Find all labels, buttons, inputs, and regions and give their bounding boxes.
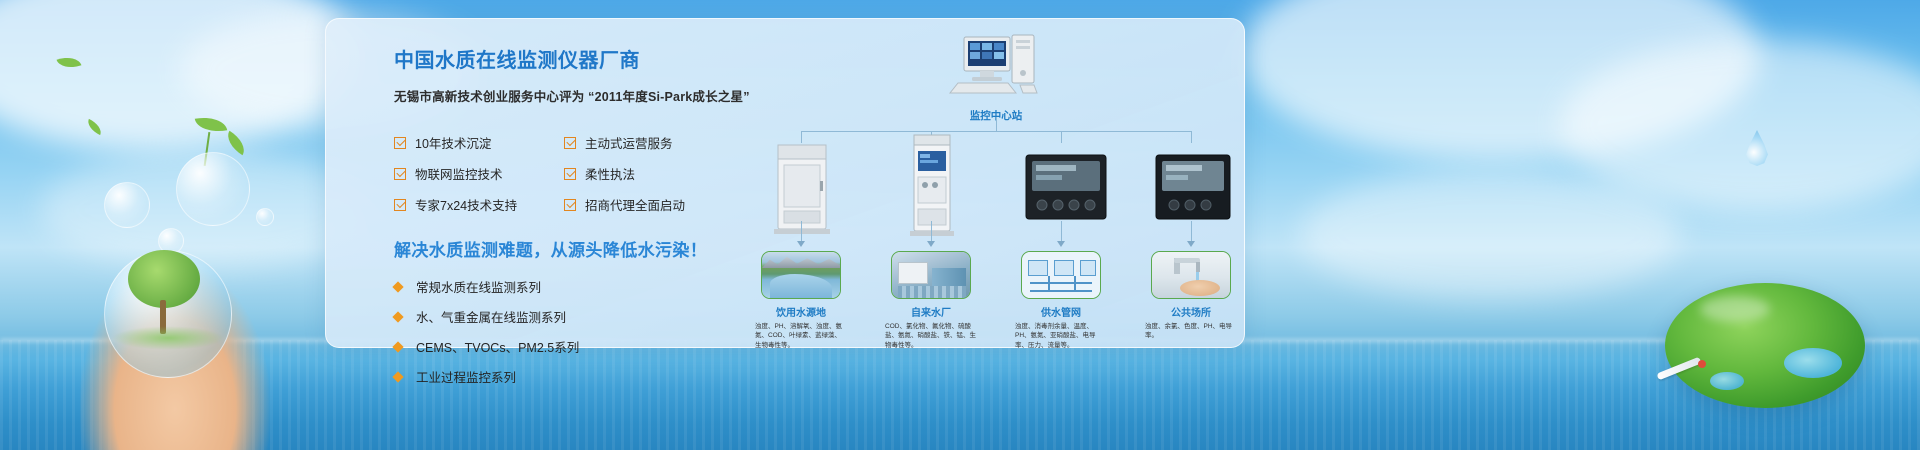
system-diagram: 监控中心站: [756, 33, 1226, 343]
feature-label: 专家7x24技术支持: [415, 195, 517, 214]
product-series-list: 常规水质在线监测系列 水、气重金属在线监测系列 CEMS、TVOCs、PM2.5…: [394, 277, 794, 386]
series-label: 水、气重金属在线监测系列: [416, 307, 566, 326]
analyzer-rack-icon: [894, 133, 970, 237]
leaf-icon: [195, 114, 227, 136]
scene-card[interactable]: 饮用水源地 浊度、PH、溶解氧、浊度、氨氮、COD、叶绿素、蓝绿藻、生物毒性等。: [761, 251, 841, 350]
feature-label: 主动式运营服务: [585, 133, 673, 152]
connector-line: [1191, 221, 1192, 243]
controller-icon: [1024, 151, 1108, 225]
scene-caption: 浊度、余氯、色度、PH、电导率。: [1145, 322, 1237, 341]
cabinet-analyzer-icon: [764, 141, 840, 237]
section-title: 解决水质监测难题，从源头降低水污染！: [394, 236, 794, 261]
feature-label: 10年技术沉淀: [415, 133, 491, 152]
scene-title: 公共场所: [1151, 304, 1231, 319]
feature-item[interactable]: 物联网监控技术: [394, 164, 564, 183]
connector-line: [931, 221, 932, 243]
globe-water-patch: [1710, 372, 1744, 390]
feature-label: 招商代理全面启动: [585, 195, 685, 214]
scene-title: 饮用水源地: [761, 304, 841, 319]
globe-shine: [1700, 296, 1770, 322]
feature-row: 10年技术沉淀 主动式运营服务: [394, 133, 734, 152]
checkbox-checked-icon: [564, 168, 576, 180]
list-item[interactable]: 水、气重金属在线监测系列: [394, 307, 794, 326]
device-analyzer-rack: [894, 133, 970, 231]
feature-label: 物联网监控技术: [415, 164, 503, 183]
feature-item[interactable]: 柔性执法: [564, 164, 734, 183]
device-controller-black: [1024, 151, 1100, 249]
scene-card[interactable]: 供水管网 浊度、消毒剂余量、温度、PH、氨氮、亚硝酸盐、电导率、压力、流量等。: [1021, 251, 1101, 350]
scene-photo-waterplant: [891, 251, 971, 299]
bubble-decoration: [256, 208, 274, 226]
arrow-down-icon: [927, 241, 935, 247]
checkbox-checked-icon: [564, 199, 576, 211]
scene-card[interactable]: 自来水厂 COD、氯化物、氟化物、硫酸盐、氨氮、硝酸盐、铁、锰、生物毒性等。: [891, 251, 971, 350]
device-controller-black-2: [1154, 151, 1230, 249]
list-item[interactable]: CEMS、TVOCs、PM2.5系列: [394, 337, 794, 356]
feature-row: 物联网监控技术 柔性执法: [394, 164, 734, 183]
device-water-cabinet: [764, 141, 840, 239]
scene-card[interactable]: 公共场所 浊度、余氯、色度、PH、电导率。: [1151, 251, 1231, 341]
arrow-down-icon: [797, 241, 805, 247]
list-item[interactable]: 常规水质在线监测系列: [394, 277, 794, 296]
monitoring-center-node: 监控中心站: [936, 33, 1056, 123]
computer-icon: [936, 33, 1056, 99]
water-drop-icon: [1744, 130, 1770, 166]
checkbox-checked-icon: [394, 199, 406, 211]
checkbox-checked-icon: [564, 137, 576, 149]
content-panel: 中国水质在线监测仪器厂商 无锡市高新技术创业服务中心评为 “2011年度Si-P…: [325, 18, 1245, 348]
diamond-bullet-icon: [392, 371, 403, 382]
scene-title: 自来水厂: [891, 304, 971, 319]
diamond-bullet-icon: [392, 311, 403, 322]
leaf-icon: [85, 119, 105, 135]
cloud-decoration: [1560, 40, 1920, 210]
feature-label: 柔性执法: [585, 164, 635, 183]
feature-item[interactable]: 招商代理全面启动: [564, 195, 734, 214]
leaf-icon: [222, 131, 250, 156]
page-title: 中国水质在线监测仪器厂商: [394, 44, 794, 73]
list-item[interactable]: 工业过程监控系列: [394, 367, 794, 386]
feature-item[interactable]: 专家7x24技术支持: [394, 195, 564, 214]
bubble-decoration: [104, 182, 150, 228]
leaf-icon: [57, 53, 82, 72]
scene-photo-pipeline-diagram: [1021, 251, 1101, 299]
globe-water-patch: [1784, 348, 1842, 378]
left-content-column: 中国水质在线监测仪器厂商 无锡市高新技术创业服务中心评为 “2011年度Si-P…: [394, 44, 794, 397]
feature-item[interactable]: 10年技术沉淀: [394, 133, 564, 152]
scene-photo-river: [761, 251, 841, 299]
connector-line: [801, 221, 802, 243]
checkbox-checked-icon: [394, 168, 406, 180]
connector-line: [1061, 221, 1062, 243]
controller-icon: [1154, 151, 1232, 225]
probe-tip: [1698, 360, 1706, 368]
diamond-bullet-icon: [392, 281, 403, 292]
checkbox-checked-icon: [394, 137, 406, 149]
scene-caption: 浊度、PH、溶解氧、浊度、氨氮、COD、叶绿素、蓝绿藻、生物毒性等。: [755, 322, 847, 350]
cloud-decoration: [1300, 170, 1680, 300]
series-label: 常规水质在线监测系列: [416, 277, 541, 296]
bubble-decoration: [176, 152, 250, 226]
diamond-bullet-icon: [392, 341, 403, 352]
cloud-decoration: [1240, 0, 1760, 160]
scene-caption: 浊度、消毒剂余量、温度、PH、氨氮、亚硝酸盐、电导率、压力、流量等。: [1015, 322, 1107, 350]
cloud-decoration: [0, 0, 360, 150]
arrow-down-icon: [1187, 241, 1195, 247]
scene-caption: COD、氯化物、氟化物、硫酸盐、氨氮、硝酸盐、铁、锰、生物毒性等。: [885, 322, 977, 350]
series-label: CEMS、TVOCs、PM2.5系列: [416, 337, 579, 356]
sea-shimmer: [0, 340, 1920, 450]
scene-title: 供水管网: [1021, 304, 1101, 319]
feature-checklist: 10年技术沉淀 主动式运营服务 物联网监控技术 柔性执法: [394, 133, 734, 214]
series-label: 工业过程监控系列: [416, 367, 516, 386]
page-subtitle: 无锡市高新技术创业服务中心评为 “2011年度Si-Park成长之星”: [394, 86, 794, 105]
tree-ground-ring: [112, 326, 224, 350]
arrow-down-icon: [1057, 241, 1065, 247]
feature-item[interactable]: 主动式运营服务: [564, 133, 734, 152]
device-row: [756, 129, 1226, 239]
scene-photo-faucet: [1151, 251, 1231, 299]
feature-row: 专家7x24技术支持 招商代理全面启动: [394, 195, 734, 214]
